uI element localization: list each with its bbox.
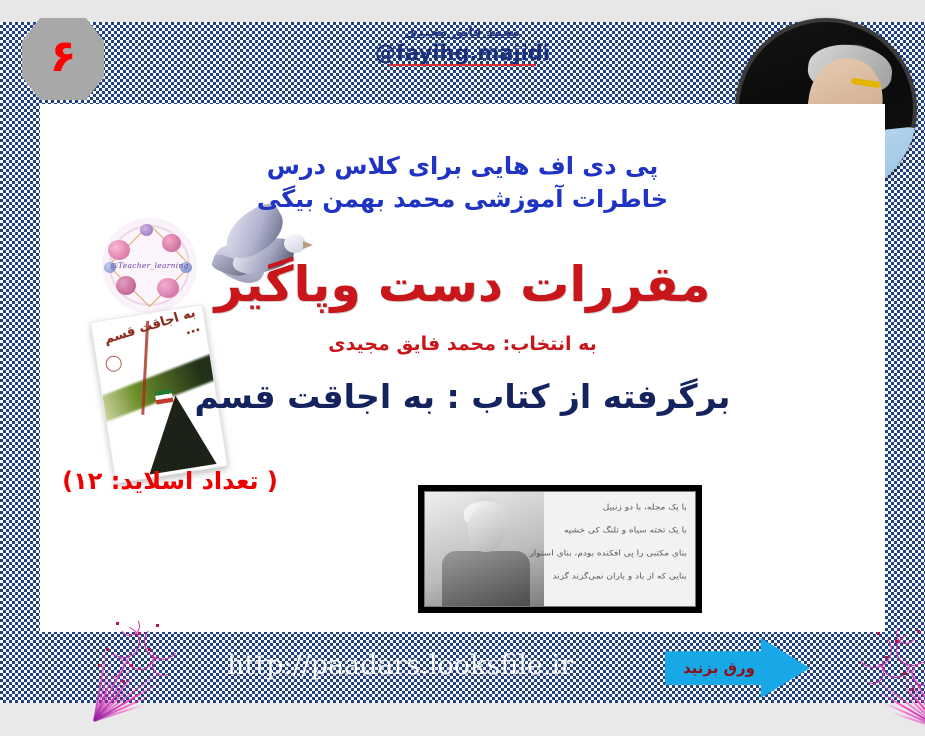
framed-photo-inner: با یک مجله، با دو زنبیل با یک تخته سیاه … (424, 491, 696, 607)
flower-icon (108, 240, 130, 260)
top-gray-strip (0, 0, 925, 22)
source-book-line: برگرفته از کتاب : به اجاقت قسم (40, 377, 885, 416)
slide-background: ۶ محمد فایق مجیدی @fayihg.majidi @Teache… (0, 0, 925, 703)
next-slide-label: ورق بزنید (671, 659, 767, 677)
page-title-line1: پی دی اف هایی برای کلاس درس (40, 150, 885, 183)
next-slide-button[interactable]: ورق بزنید (665, 638, 810, 698)
curator-line: به انتخاب: محمد فایق مجیدی (40, 333, 885, 355)
photo-face (468, 507, 504, 552)
flower-icon (162, 234, 181, 252)
flourish-dot (116, 622, 119, 625)
site-url[interactable]: http://paadars.looksfile.ir (150, 650, 650, 681)
calligraphy-line: با یک تخته سیاه و تلنگ کی خشیه (564, 527, 687, 536)
portrait-bw-photo (425, 492, 544, 606)
wreath-handle-text: @Teacher_learning (110, 261, 189, 270)
flower-icon (140, 224, 153, 236)
framed-photo: با یک مجله، با دو زنبیل با یک تخته سیاه … (418, 485, 702, 613)
slide-count-badge: ( تعداد اسلاید: ۱۲) (55, 467, 285, 495)
flourish-ray (883, 702, 925, 730)
photo-body (442, 551, 530, 606)
calligraphy-line: با یک مجله، با دو زنبیل (603, 504, 687, 513)
content-card: @Teacher_learning به اجاقت قسم ... پی دی… (40, 104, 885, 632)
flourish-ray (94, 704, 144, 722)
social-handle[interactable]: @fayihg.majidi (375, 41, 550, 65)
page-title: پی دی اف هایی برای کلاس درس خاطرات آموزش… (40, 150, 885, 216)
flourish-dot (156, 624, 159, 627)
flourish-ray (892, 712, 925, 730)
calligraphy-line: بنایی که از باد و باران نمی‌گزند گزند (552, 573, 686, 582)
calligraphy-line: بنای مکتبی را پی افکنده بودم، بنای استوا… (529, 550, 686, 559)
dove-beak (303, 241, 313, 249)
page-title-line2: خاطرات آموزشی محمد بهمن بیگی (40, 183, 885, 216)
